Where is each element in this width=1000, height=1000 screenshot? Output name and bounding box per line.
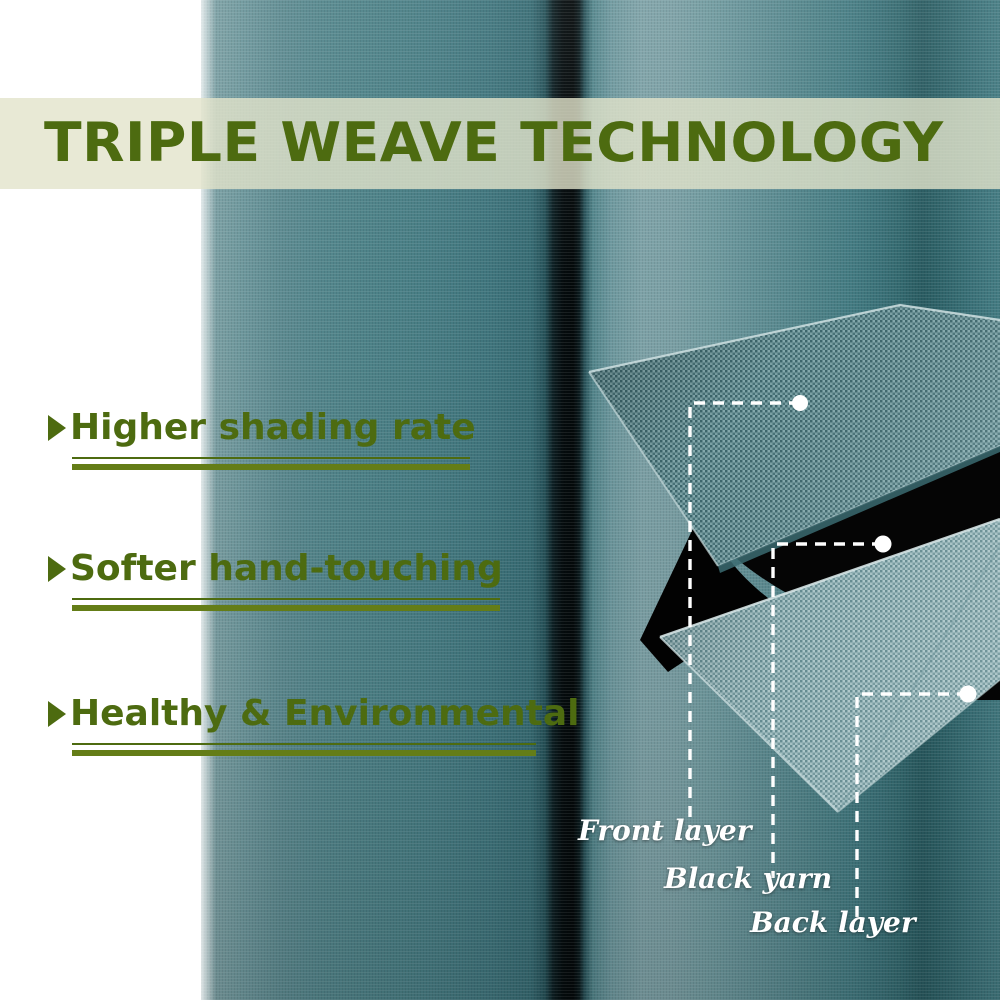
feature-item-softer-hand-touching: Softer hand-touching <box>48 551 503 611</box>
underline-thin <box>72 598 500 600</box>
product-feature-image: TRIPLE WEAVE TECHNOLOGY Higher shading r… <box>0 0 1000 1000</box>
underline-thick <box>72 605 500 611</box>
triangle-right-icon <box>48 701 66 727</box>
page-title: TRIPLE WEAVE TECHNOLOGY <box>44 111 944 174</box>
triangle-right-icon <box>48 556 66 582</box>
title-banner: TRIPLE WEAVE TECHNOLOGY <box>0 98 1000 189</box>
triangle-right-icon <box>48 415 66 441</box>
feature-item-higher-shading-rate: Higher shading rate <box>48 410 476 470</box>
callout-label-back-layer: Back layer <box>750 906 916 939</box>
feature-underline <box>72 743 536 756</box>
underline-thick <box>72 750 536 756</box>
feature-underline <box>72 598 500 611</box>
feature-label: Healthy & Environmental <box>70 696 579 732</box>
feature-label: Higher shading rate <box>70 410 476 446</box>
feature-underline <box>72 457 470 470</box>
feature-item-healthy-environmental: Healthy & Environmental <box>48 696 579 756</box>
callout-label-front-layer: Front layer <box>578 814 751 847</box>
underline-thin <box>72 457 470 459</box>
underline-thick <box>72 464 470 470</box>
underline-thin <box>72 743 536 745</box>
callout-label-black-yarn: Black yarn <box>664 862 832 895</box>
feature-label: Softer hand-touching <box>70 551 503 587</box>
